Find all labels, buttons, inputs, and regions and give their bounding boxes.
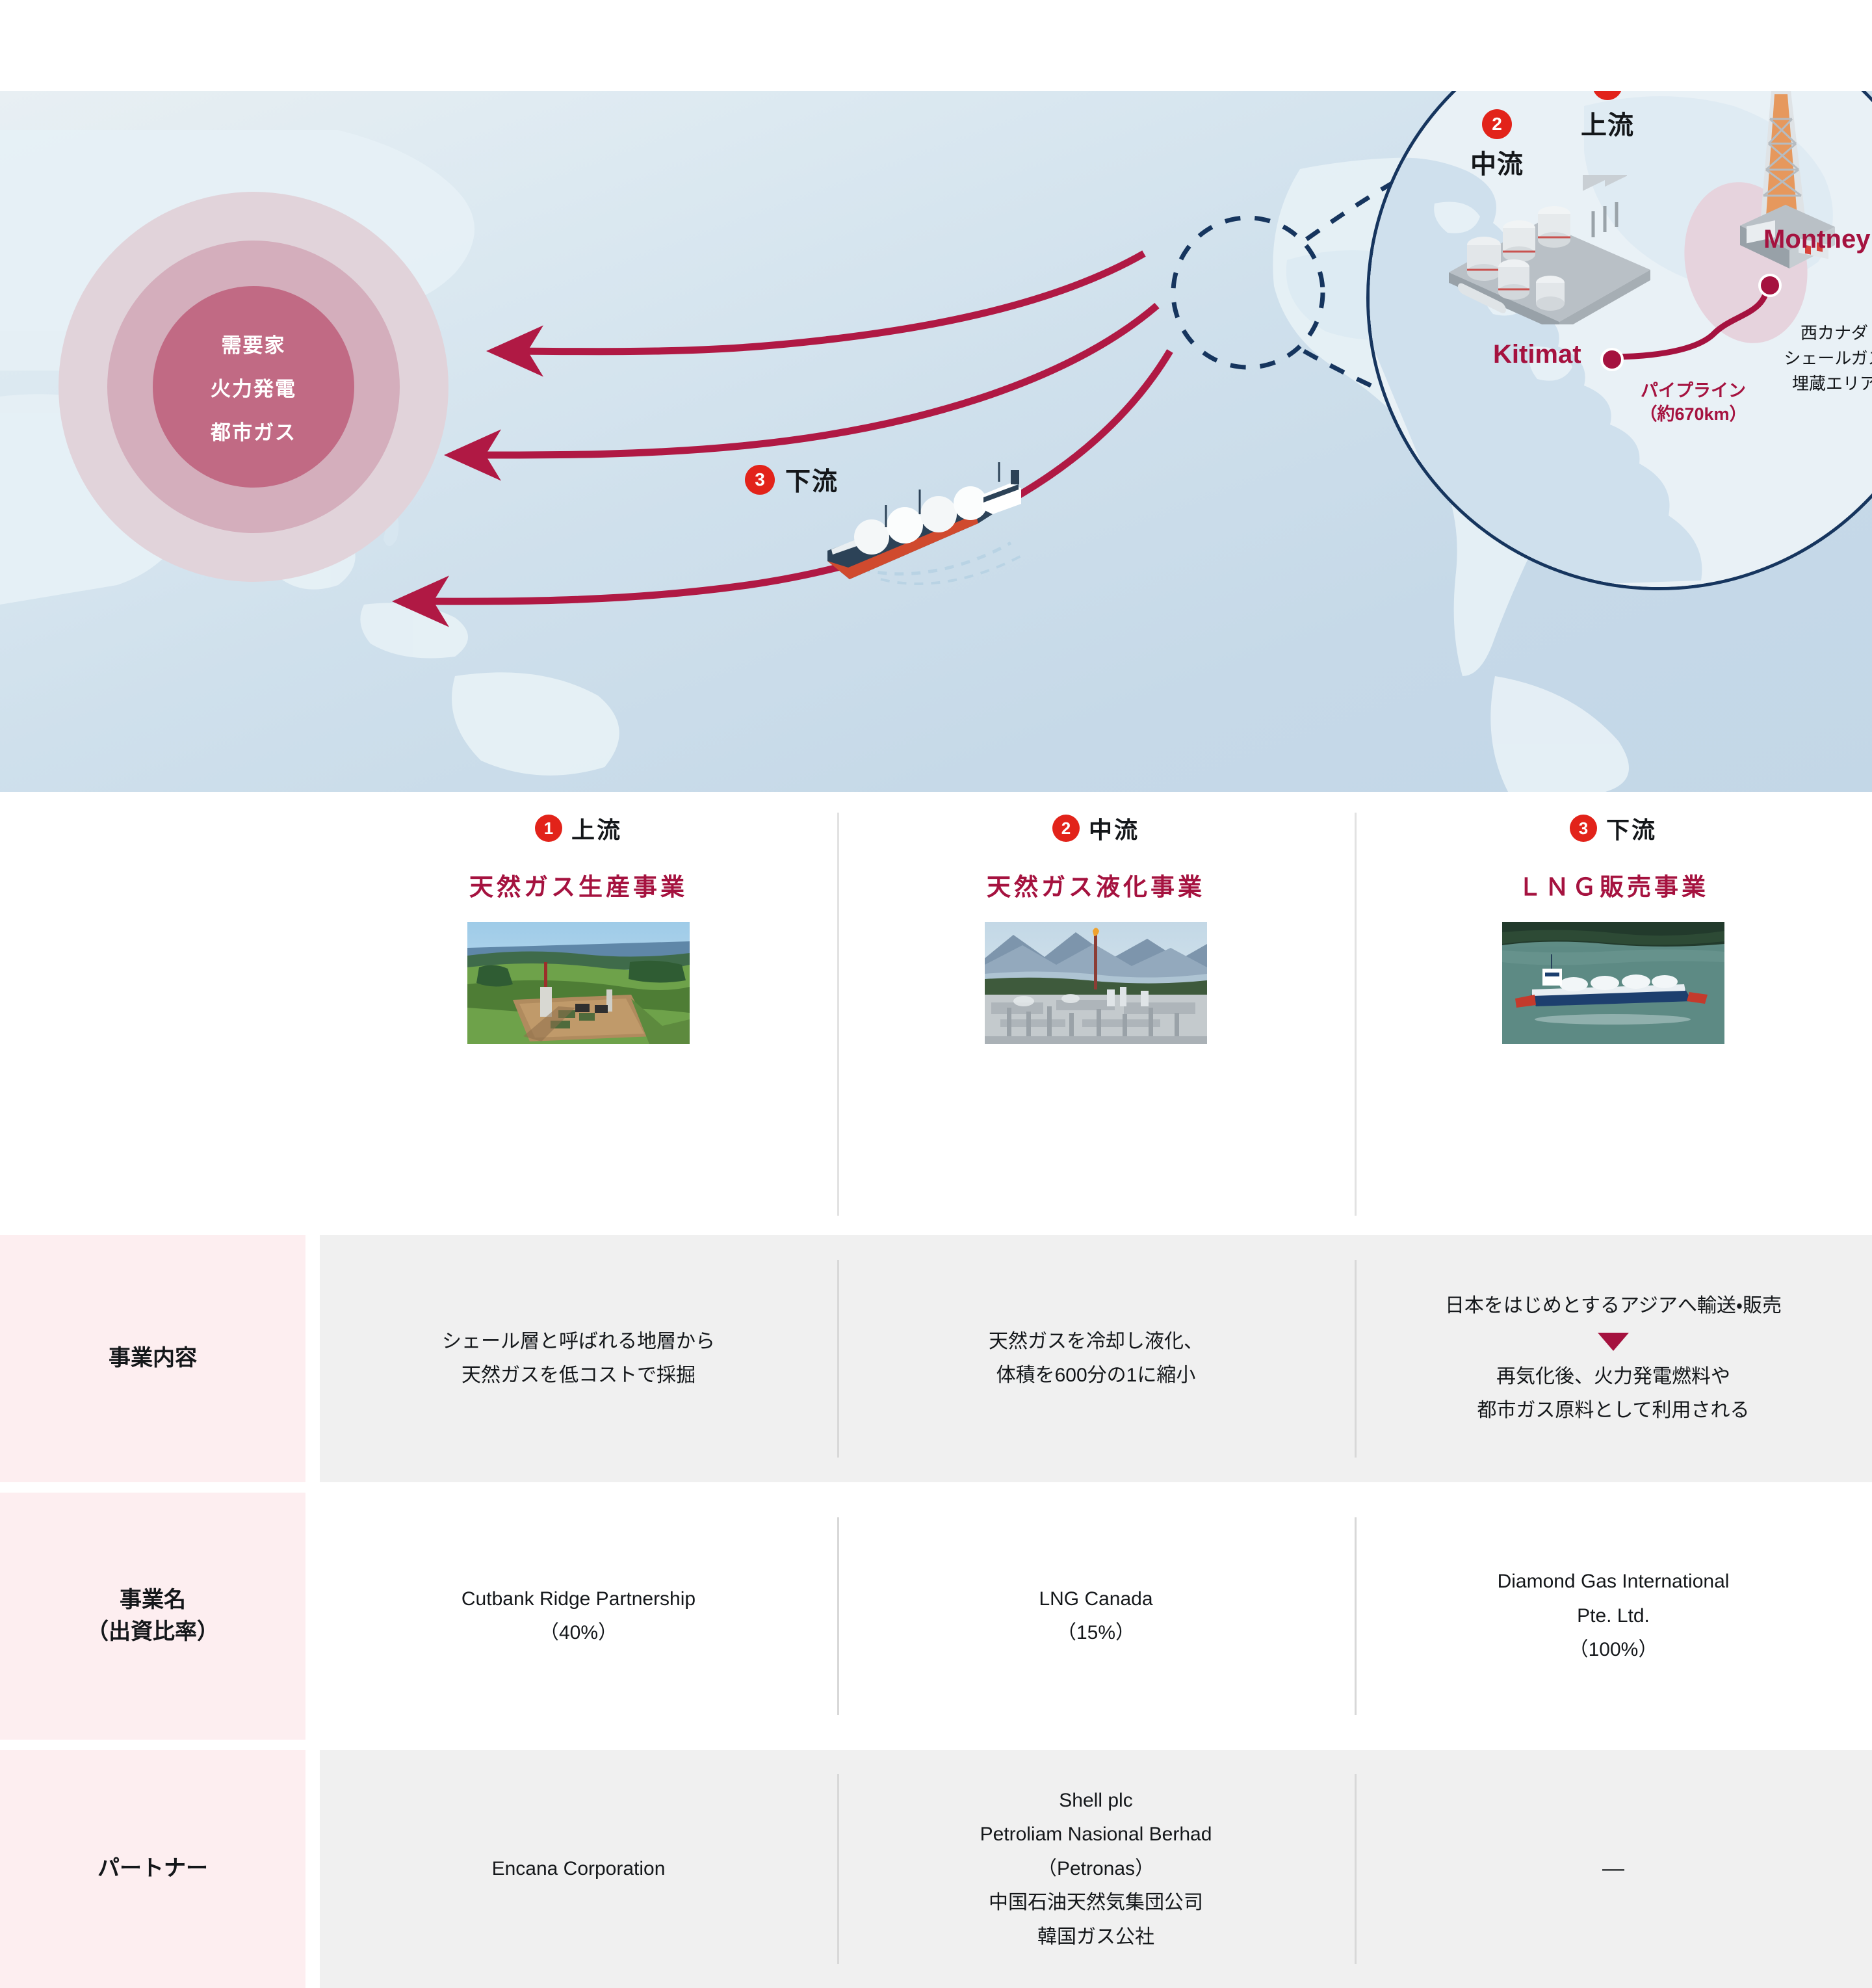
header-badge-downstream: 3 下流 <box>1570 811 1657 845</box>
partner-midstream-line-1: Shell plc <box>1059 1784 1132 1818</box>
header-badge-upstream: 1 上流 <box>535 811 622 845</box>
header-label-cell <box>0 792 305 1235</box>
table-row-business-name: 事業名 （出資比率） Cutbank Ridge Partnership （40… <box>0 1493 1872 1740</box>
name-upstream-line-2: （40%） <box>539 1616 617 1651</box>
pipeline-label-text: パイプライン <box>1628 379 1758 402</box>
name-downstream-line-1: Diamond Gas International <box>1498 1565 1730 1599</box>
content-downstream-line-1: 再気化後、火力発電燃料や <box>1496 1360 1730 1394</box>
table-row-business-content: 事業内容 シェール層と呼ばれる地層から 天然ガスを低コストで採掘 天然ガスを冷却… <box>0 1235 1872 1482</box>
partner-midstream-line-5: 韓国ガス公社 <box>1037 1920 1154 1955</box>
header-title-downstream: ＬＮＧ販売事業 <box>1518 867 1709 902</box>
header-number-3: 3 <box>1570 815 1597 842</box>
cell-partner-midstream: Shell plc Petroliam Nasional Berhad （Pet… <box>837 1750 1355 1988</box>
cell-name-downstream: Diamond Gas International Pte. Ltd. （100… <box>1355 1493 1872 1740</box>
content-upstream-line-2: 天然ガスを低コストで採掘 <box>461 1359 695 1393</box>
column-downstream-header: 3 下流 ＬＮＧ販売事業 <box>1355 792 1872 1235</box>
shale-caption-line-2: シェールガス <box>1760 346 1872 371</box>
pipeline-distance-text: （約670km） <box>1628 402 1758 426</box>
business-comparison-table: 1 上流 天然ガス生産事業 <box>0 792 1872 1988</box>
content-upstream-line-1: シェール層と呼ばれる地層から <box>442 1325 715 1359</box>
cell-partner-downstream: — <box>1355 1750 1872 1988</box>
column-midstream-header: 2 中流 天然ガス液化事業 <box>837 792 1355 1235</box>
name-midstream-line-1: LNG Canada <box>1039 1582 1152 1617</box>
row-label-business-name: 事業名 （出資比率） <box>0 1493 305 1740</box>
row-label-business-content: 事業内容 <box>0 1235 305 1482</box>
shale-caption-line-1: 西カナダ <box>1760 320 1872 346</box>
content-midstream-line-2: 体積を600分の1に縮小 <box>996 1359 1196 1393</box>
canada-detail-magnifier: 1 上流 2 中流 Montney Kitimat パイプライン （約670km… <box>1366 91 1872 590</box>
marker-number-3: 3 <box>745 465 775 495</box>
pipeline-label: パイプライン （約670km） <box>1628 379 1758 426</box>
lng-carrier-icon <box>816 452 1050 595</box>
cell-content-downstream: 日本をはじめとするアジアへ輸送・販売 再気化後、火力発電燃料や 都市ガス原料とし… <box>1355 1235 1872 1482</box>
header-number-2: 2 <box>1052 815 1080 842</box>
partner-midstream-line-3: （Petronas） <box>1037 1852 1154 1887</box>
row-spacer-2 <box>0 1740 1872 1750</box>
header-number-1: 1 <box>535 815 562 842</box>
kitimat-dot-icon <box>1600 348 1624 371</box>
header-title-midstream: 天然ガス液化事業 <box>987 867 1205 902</box>
table-row-partner: パートナー Encana Corporation Shell plc Petro… <box>0 1750 1872 1988</box>
kitimat-label: Kitimat <box>1493 340 1581 369</box>
table-header-row: 1 上流 天然ガス生産事業 <box>0 792 1872 1235</box>
content-downstream-top: 日本をはじめとするアジアへ輸送・販売 <box>1445 1289 1782 1324</box>
header-flow-downstream: 下流 <box>1606 811 1657 845</box>
montney-label: Montney <box>1763 225 1870 254</box>
partner-midstream-line-2: Petroliam Nasional Berhad <box>980 1818 1212 1852</box>
partner-downstream-none: — <box>1602 1850 1624 1889</box>
lng-liquefaction-plant-photo <box>985 922 1207 1044</box>
content-midstream-line-1: 天然ガスを冷却し液化、 <box>989 1325 1203 1359</box>
header-badge-midstream: 2 中流 <box>1052 811 1139 845</box>
cell-content-midstream: 天然ガスを冷却し液化、 体積を600分の1に縮小 <box>837 1235 1355 1482</box>
name-upstream-line-1: Cutbank Ridge Partnership <box>461 1582 695 1617</box>
marker-number-2: 2 <box>1482 109 1512 139</box>
partner-upstream-line-1: Encana Corporation <box>492 1852 666 1887</box>
column-upstream-header: 1 上流 天然ガス生産事業 <box>320 792 837 1235</box>
header-title-upstream: 天然ガス生産事業 <box>469 867 688 902</box>
montney-dot-icon <box>1758 274 1782 297</box>
upstream-map-marker: 1 上流 <box>1581 91 1634 142</box>
cell-name-upstream: Cutbank Ridge Partnership （40%） <box>320 1493 837 1740</box>
shale-area-caption: 西カナダ シェールガス 埋蔵エリア <box>1760 320 1872 397</box>
name-downstream-line-3: （100%） <box>1569 1633 1658 1668</box>
shale-caption-line-3: 埋蔵エリア <box>1760 371 1872 397</box>
partner-midstream-line-4: 中国石油天然気集団公司 <box>989 1886 1203 1920</box>
name-downstream-line-2: Pte. Ltd. <box>1577 1599 1650 1634</box>
cell-name-midstream: LNG Canada （15%） <box>837 1493 1355 1740</box>
marker-label-midstream: 中流 <box>1470 143 1524 181</box>
content-downstream-line-2: 都市ガス原料として利用される <box>1477 1394 1749 1428</box>
row-label-partner: パートナー <box>0 1750 305 1988</box>
marker-number-1: 1 <box>1592 91 1622 100</box>
marker-label-upstream: 上流 <box>1581 104 1634 142</box>
header-flow-midstream: 中流 <box>1089 811 1139 845</box>
world-map-panel: 需要家 火力発電 都市ガス 3 下流 <box>0 91 1872 792</box>
cell-content-upstream: シェール層と呼ばれる地層から 天然ガスを低コストで採掘 <box>320 1235 837 1482</box>
header-flow-upstream: 上流 <box>571 811 622 845</box>
natural-gas-drilling-site-photo <box>467 922 690 1044</box>
row-spacer-1 <box>0 1482 1872 1493</box>
midstream-map-marker: 2 中流 <box>1470 109 1524 181</box>
row-label-business-name-line-1: 事業名 <box>86 1584 219 1616</box>
cell-partner-upstream: Encana Corporation <box>320 1750 837 1988</box>
row-label-business-name-line-2: （出資比率） <box>86 1616 219 1648</box>
down-arrow-icon <box>1598 1333 1629 1351</box>
name-midstream-line-2: （15%） <box>1057 1616 1135 1651</box>
lng-carrier-vessel-photo <box>1502 922 1724 1044</box>
